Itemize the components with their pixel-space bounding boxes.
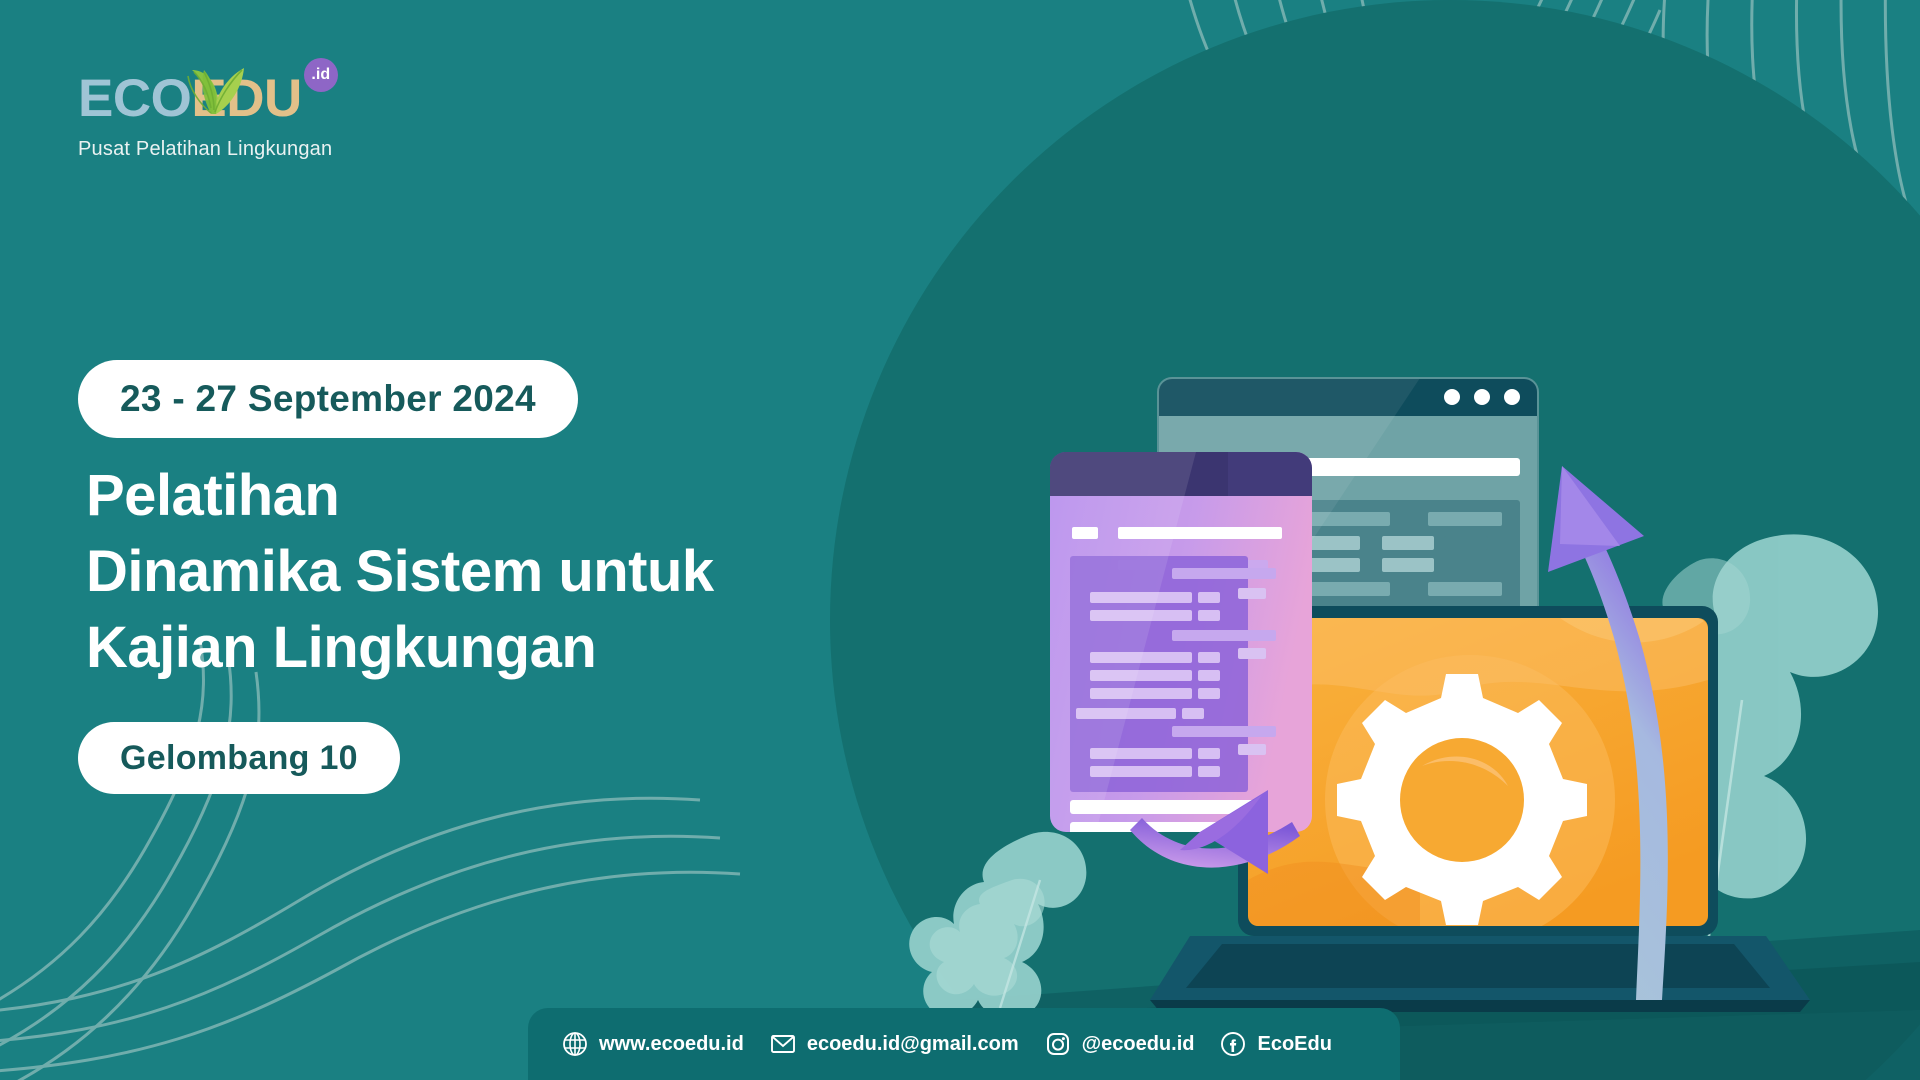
date-badge: 23 - 27 September 2024 [78, 360, 578, 438]
envelope-icon [770, 1031, 796, 1057]
contact-footer-bar: www.ecoedu.id ecoedu.id@gmail.com @ecoed… [528, 1008, 1400, 1080]
contact-item-facebook[interactable]: EcoEdu [1220, 1031, 1331, 1057]
contact-item-instagram[interactable]: @ecoedu.id [1045, 1031, 1195, 1057]
contact-label-facebook: EcoEdu [1257, 1033, 1331, 1056]
facebook-icon [1220, 1031, 1246, 1057]
page-title: Pelatihan Dinamika Sistem untuk Kajian L… [86, 458, 714, 686]
contact-label-instagram: @ecoedu.id [1082, 1033, 1195, 1056]
instagram-icon [1045, 1031, 1071, 1057]
contact-item-email[interactable]: ecoedu.id@gmail.com [770, 1031, 1019, 1057]
headline-line-1: Pelatihan [86, 458, 714, 534]
wave-badge: Gelombang 10 [78, 722, 400, 794]
code-window-purple [1050, 452, 1312, 836]
contact-label-email: ecoedu.id@gmail.com [807, 1033, 1019, 1056]
contact-label-website: www.ecoedu.id [599, 1033, 744, 1056]
gear-icon [1337, 674, 1587, 925]
globe-icon [562, 1031, 588, 1057]
banner-canvas: ECOEDU.id Pusat Pelatihan Lingkungan [0, 0, 1920, 1080]
headline-line-2: Dinamika Sistem untuk [86, 534, 714, 610]
headline-line-3: Kajian Lingkungan [86, 610, 714, 686]
contact-item-website[interactable]: www.ecoedu.id [562, 1031, 744, 1057]
